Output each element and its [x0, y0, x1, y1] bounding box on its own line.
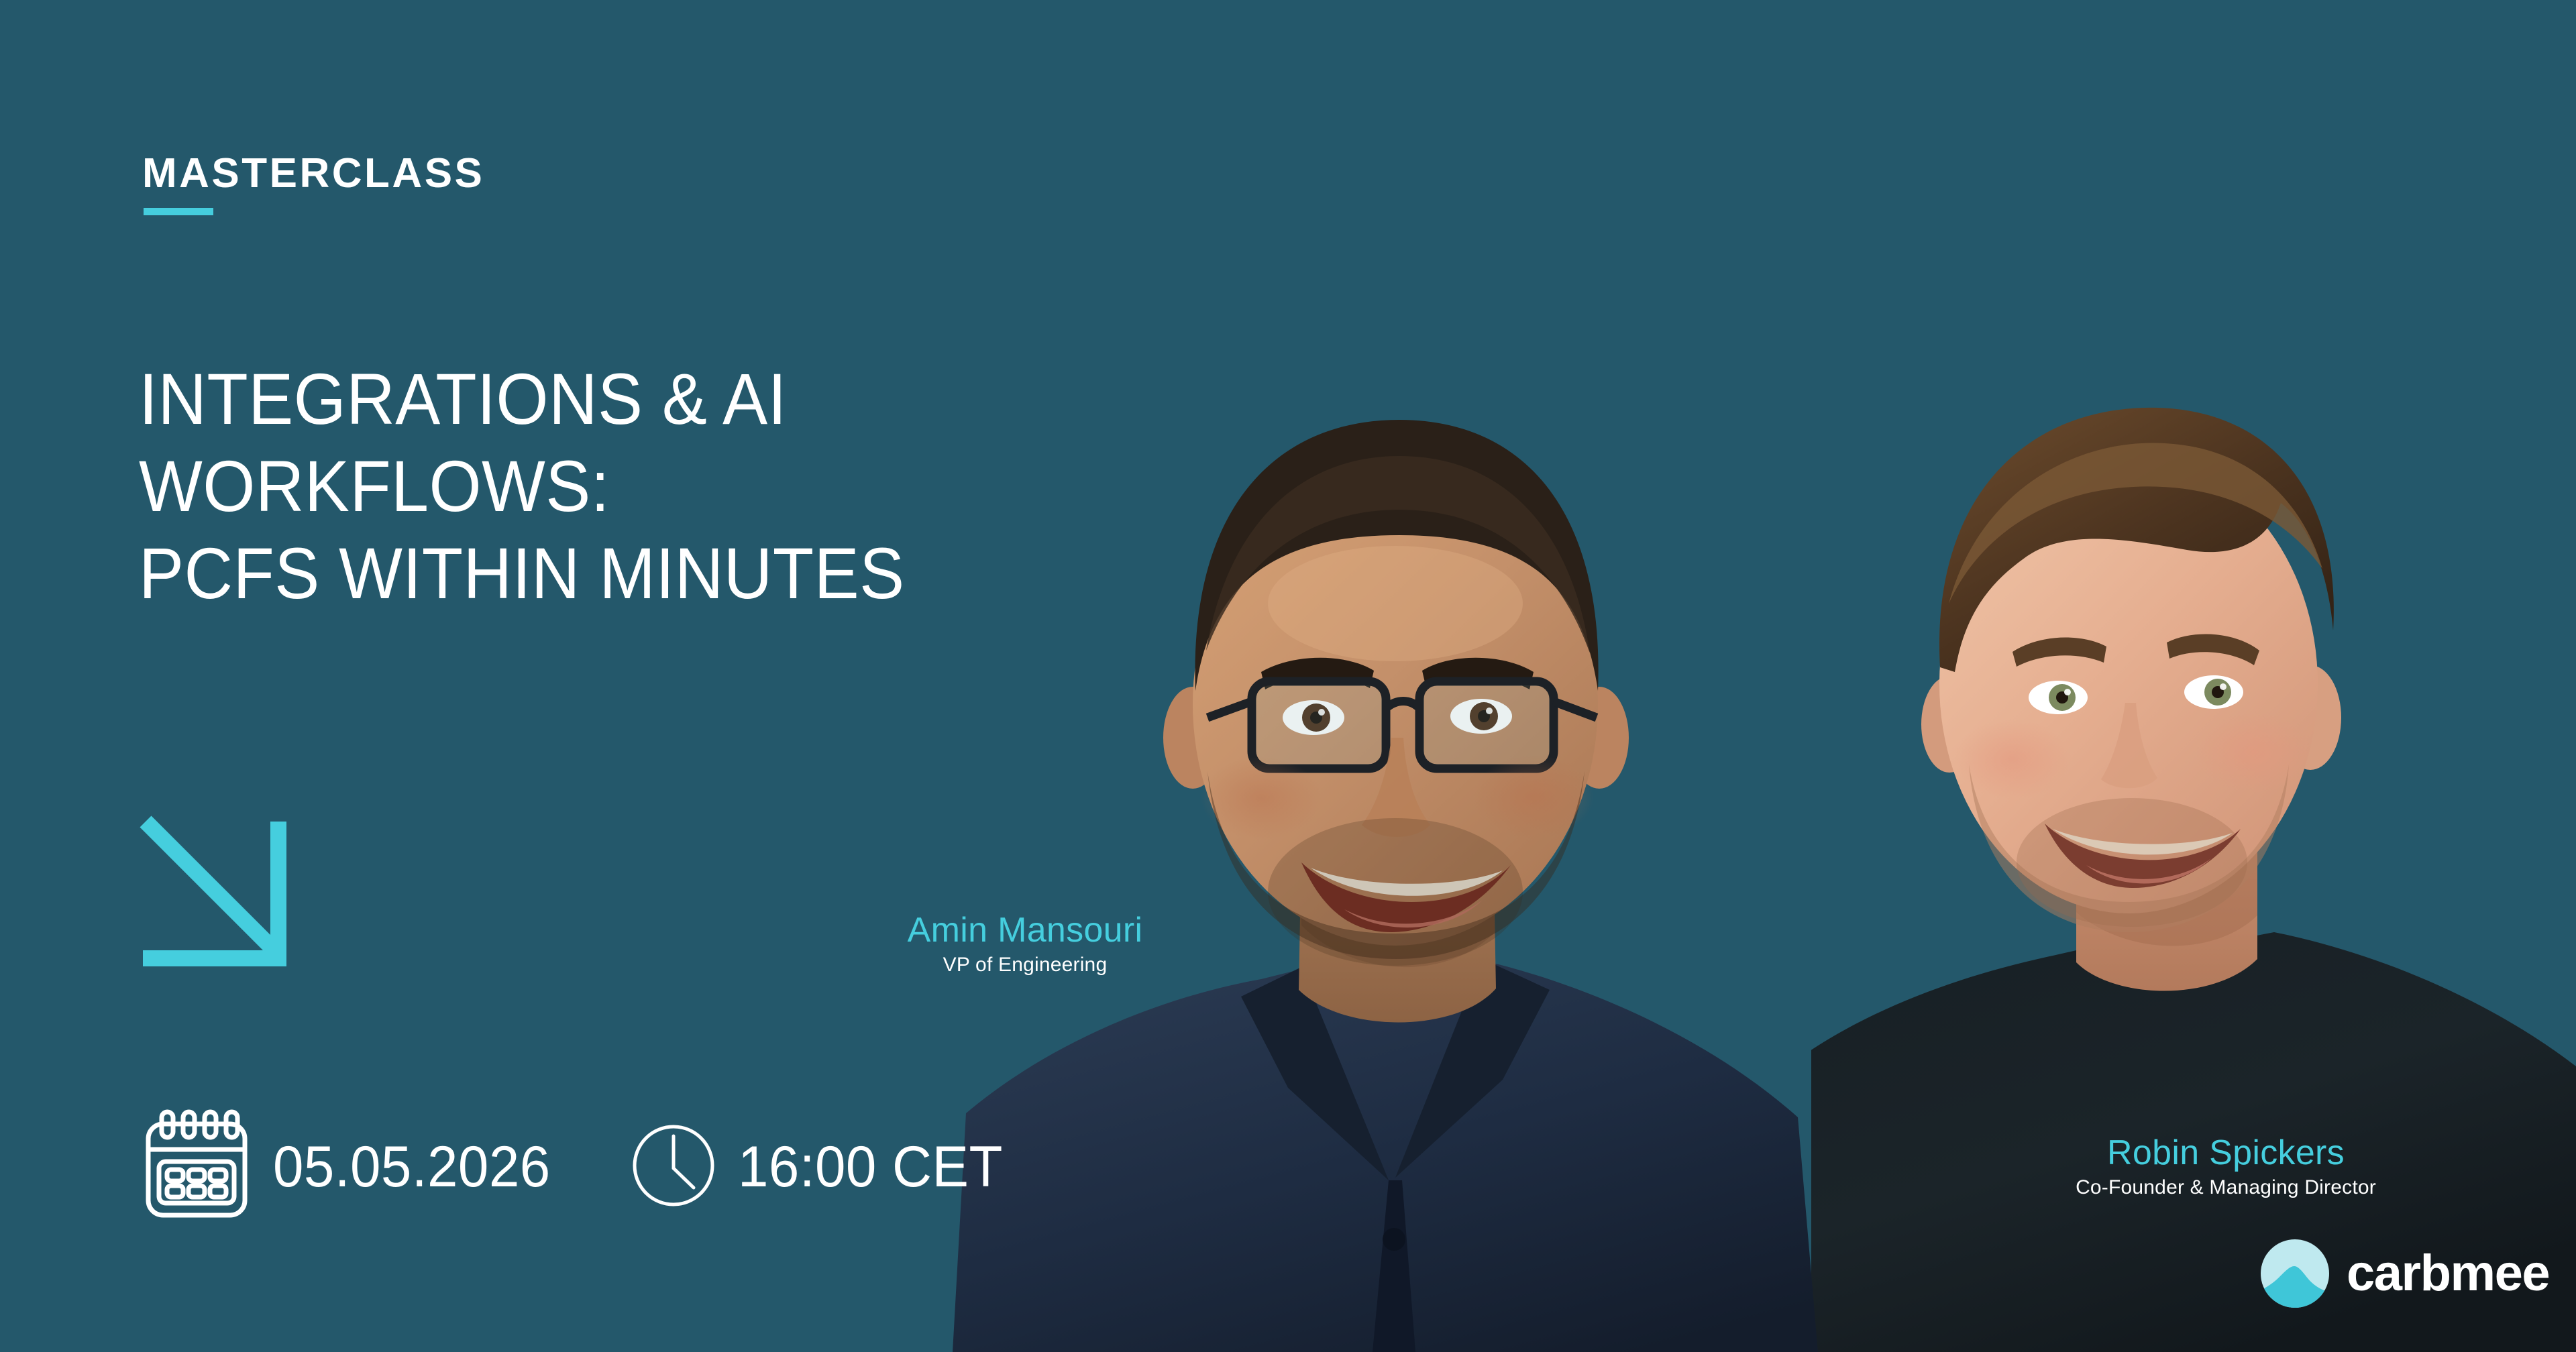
speaker-caption-amin-mansouri: Amin Mansouri VP of Engineering: [757, 911, 1293, 977]
page-eyebrow-label: MASTERCLASS: [142, 153, 484, 194]
carbmee-wordmark: carbmee: [2347, 1248, 2549, 1299]
page-title-line-2: WORKFLOWS:: [139, 443, 1075, 530]
event-meta-row: 05.05.2026 16:00 CET: [138, 1100, 1017, 1234]
event-date-item: 05.05.2026: [138, 1107, 565, 1228]
arrow-down-right-icon: [138, 815, 325, 993]
page-title: INTEGRATIONS & AI WORKFLOWS: PCFS WITHIN…: [139, 355, 1075, 617]
calendar-icon: [138, 1107, 256, 1228]
carbmee-logo-icon: [2261, 1239, 2329, 1308]
event-time-value: 16:00 CET: [738, 1138, 1003, 1196]
speaker-name: Amin Mansouri: [757, 911, 1293, 950]
masterclass-promo-banner: MASTERCLASS INTEGRATIONS & AI WORKFLOWS:…: [0, 0, 2576, 1352]
page-title-line-3: PCFS WITHIN MINUTES: [139, 530, 1075, 617]
speaker-photo-amin-mansouri: [926, 288, 1972, 1352]
event-time-item: 16:00 CET: [627, 1119, 1017, 1216]
clock-icon: [627, 1119, 720, 1216]
event-date-value: 05.05.2026: [273, 1138, 551, 1196]
eyebrow-accent-rule: [144, 208, 213, 215]
speaker-caption-robin-spickers: Robin Spickers Co-Founder & Managing Dir…: [1924, 1133, 2528, 1200]
speaker-name: Robin Spickers: [1924, 1133, 2528, 1172]
speaker-role: Co-Founder & Managing Director: [1924, 1176, 2528, 1200]
carbmee-logo: carbmee: [2261, 1239, 2549, 1308]
speaker-role: VP of Engineering: [757, 954, 1293, 977]
page-title-line-1: INTEGRATIONS & AI: [139, 355, 1075, 443]
